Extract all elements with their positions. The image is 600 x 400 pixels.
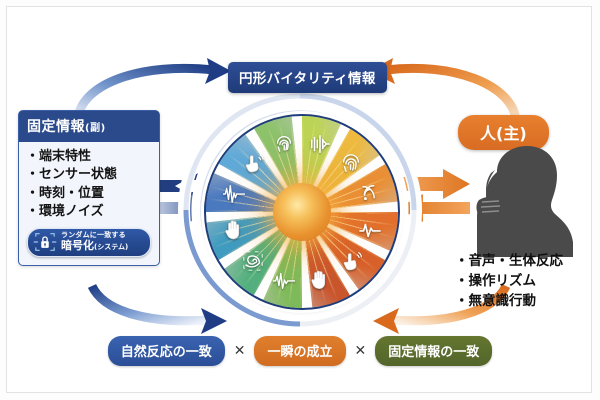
vitality-wheel — [176, 92, 424, 328]
fixed-info-panel: 固定情報(副) ・端末特性 ・センサー状態 ・時刻・位置 ・環境ノイズ ランダム — [18, 110, 160, 266]
multiply-sign: ✕ — [234, 343, 246, 359]
formula-pill-natural-reaction[interactable]: 自然反応の一致 — [108, 336, 225, 366]
top-label-circular-vitality[interactable]: 円形バイタリティ情報 — [228, 62, 387, 93]
fixed-info-header-sub: (副) — [85, 123, 106, 134]
list-item: ・音声・生体反応 — [455, 252, 600, 272]
human-response-list: ・音声・生体反応 ・操作リズム ・無意識行動 — [455, 252, 600, 312]
open-palm-icon — [307, 267, 333, 293]
multiply-sign: ✕ — [355, 343, 367, 359]
list-item: ・操作リズム — [455, 272, 600, 292]
person-silhouette-icon — [455, 142, 575, 257]
fingerprint-swirl-icon — [240, 248, 266, 274]
encryption-badge-line2: 暗号化 — [61, 239, 94, 252]
pointing-hand-icon — [338, 248, 364, 274]
signal-waves-icon — [357, 181, 383, 207]
pulse-wave-icon — [271, 267, 297, 293]
waveform-icon — [307, 131, 333, 157]
raised-hand-icon — [221, 217, 247, 243]
fingerprint-icon — [338, 150, 364, 176]
fixed-info-header: 固定情報(副) — [19, 111, 159, 142]
list-item: ・センサー状態 — [26, 166, 153, 184]
list-item: ・無意識行動 — [455, 292, 600, 312]
touch-finger-icon — [240, 150, 266, 176]
fingerprint-scan-icon — [271, 131, 297, 157]
diagram-canvas: 円形バイタリティ情報 固定情報(副) ・端末特性 ・センサー状態 ・時刻・位置 … — [0, 0, 600, 400]
fixed-info-header-main: 固定情報 — [27, 119, 85, 135]
formula-pill-instant-match[interactable]: 一瞬の成立 — [254, 336, 345, 366]
fixed-info-list: ・端末特性 ・センサー状態 ・時刻・位置 ・環境ノイズ — [19, 142, 159, 226]
list-item: ・時刻・位置 — [26, 185, 153, 203]
lock-shield-icon — [33, 232, 57, 252]
sun-core-icon — [273, 183, 331, 241]
formula-pill-fixed-info-match[interactable]: 固定情報の一致 — [375, 336, 492, 366]
formula-row: 自然反応の一致 ✕ 一瞬の成立 ✕ 固定情報の一致 — [0, 336, 600, 366]
list-item: ・環境ノイズ — [26, 203, 153, 221]
encryption-badge-system: (システム) — [94, 243, 128, 251]
wheel-disc — [204, 114, 400, 310]
encryption-badge[interactable]: ランダムに一致する 暗号化(システム) — [27, 228, 151, 257]
list-item: ・端末特性 — [26, 148, 153, 166]
heartbeat-line-icon — [357, 217, 383, 243]
ecg-line-icon — [221, 181, 247, 207]
